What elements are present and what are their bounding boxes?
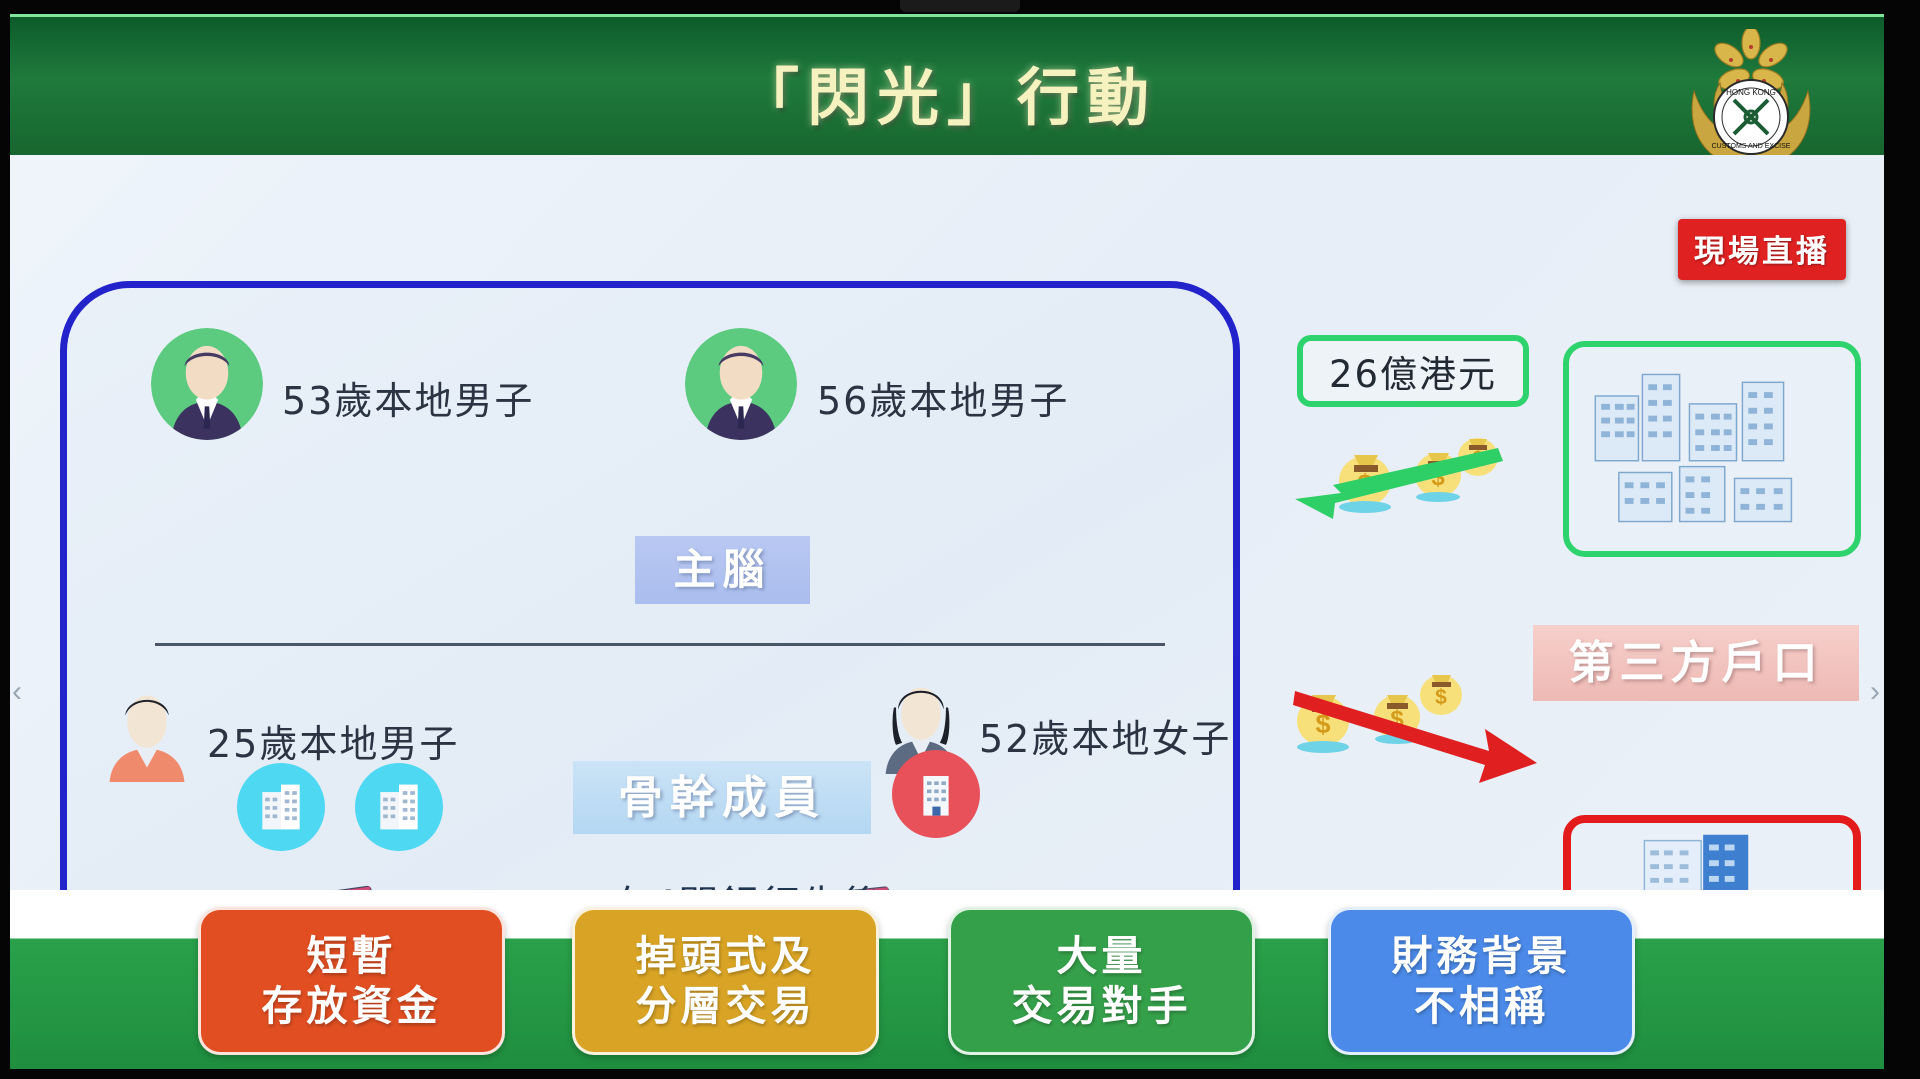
tactic-line1: 大量 xyxy=(1057,931,1147,981)
tactic-line2: 不相稱 xyxy=(1414,981,1549,1031)
money-bags-group-bottom: $ $ $ xyxy=(1293,655,1553,785)
tactic-line2: 存放資金 xyxy=(262,981,442,1031)
tactic-line1: 財務背景 xyxy=(1392,931,1572,981)
group-divider xyxy=(155,643,1165,646)
tactic-card: 掉頭式及 分層交易 xyxy=(572,907,879,1055)
svg-text:$: $ xyxy=(1435,686,1447,709)
office-buildings-icon xyxy=(1569,347,1855,549)
tactics-strip: 短暫 存放資金 掉頭式及 分層交易 大量 交易對手 財務背景 不相稱 xyxy=(10,890,1884,1069)
money-bag-icon: $ xyxy=(1420,675,1462,715)
logo-text-bottom: CUSTOMS AND EXCISE xyxy=(1712,143,1791,150)
tactic-line2: 交易對手 xyxy=(1012,981,1192,1031)
office-building-icon xyxy=(892,750,980,838)
tactic-card: 短暫 存放資金 xyxy=(198,907,505,1055)
tactic-card: 財務背景 不相稱 xyxy=(1328,907,1635,1055)
syndicate-group-card: 53歲本地男子 主腦 56歲本地男子 xyxy=(60,281,1240,973)
person-name-25: 25歲本地男子 xyxy=(207,713,459,768)
target-frame-inbound-buildings xyxy=(1563,341,1861,557)
green-left-arrow-icon xyxy=(1295,448,1503,519)
office-building-icon xyxy=(237,763,325,851)
page-title: 「閃光」行動 xyxy=(10,47,1884,137)
role-chip-mastermind: 主腦 xyxy=(635,536,810,604)
avatar xyxy=(95,678,199,782)
money-bags-group-top: $ $ $ xyxy=(1293,415,1543,535)
monitor-bezel: 「閃光」行動 xyxy=(0,0,1920,1079)
tactic-card: 大量 交易對手 xyxy=(948,907,1255,1055)
office-building-icon xyxy=(355,763,443,851)
amount-chip-inbound: 26億港元 xyxy=(1297,335,1529,407)
person-name-56: 56歲本地男子 xyxy=(817,370,1069,425)
presentation-slide: 「閃光」行動 xyxy=(10,14,1884,1069)
avatar xyxy=(151,328,263,440)
avatar xyxy=(685,328,797,440)
scroll-left-chevron-icon[interactable]: ‹ xyxy=(12,675,22,709)
slide-body: 53歲本地男子 主腦 56歲本地男子 xyxy=(10,155,1884,890)
person-name-53: 53歲本地男子 xyxy=(282,370,534,425)
scroll-right-chevron-icon[interactable]: › xyxy=(1870,675,1880,709)
webcam-notch xyxy=(900,0,1020,12)
third-party-account-label: 第三方戶口 xyxy=(1533,625,1859,701)
role-chip-core-member: 骨幹成員 xyxy=(573,761,871,834)
tactic-line2: 分層交易 xyxy=(636,981,816,1031)
tactic-line1: 掉頭式及 xyxy=(636,931,816,981)
person-name-52: 52歲本地女子 xyxy=(979,708,1231,763)
tactic-line1: 短暫 xyxy=(307,931,397,981)
slide-header: 「閃光」行動 xyxy=(10,14,1884,155)
logo-text-top: HONG KONG xyxy=(1726,88,1776,97)
live-broadcast-badge: 現場直播 xyxy=(1678,219,1846,280)
